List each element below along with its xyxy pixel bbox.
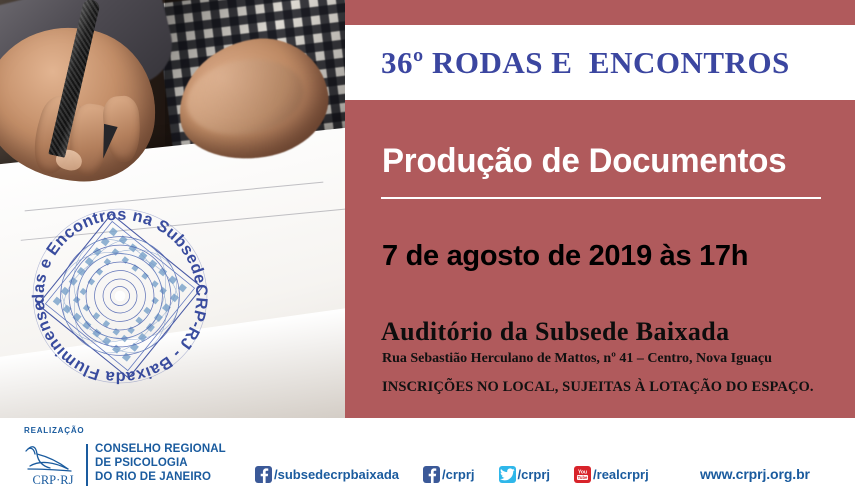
footer: REALIZAÇÃO CRP·RJ CONSELHO REGIONAL DE P… (0, 418, 855, 500)
social-links: /subsedecrpbaixada /crprj /crprj (255, 466, 649, 483)
social-link-youtube-realcrprj[interactable]: You Tube /realcrprj (574, 466, 649, 483)
social-handle: /subsedecrpbaixada (274, 467, 399, 482)
event-subtitle: Produção de Documentos (382, 142, 819, 181)
social-link-twitter-crprj[interactable]: /crprj (499, 466, 551, 483)
organization-line-1: CONSELHO REGIONAL (95, 442, 226, 456)
realizacao-label: REALIZAÇÃO (24, 426, 84, 435)
page-title: 36º RODAS E ENCONTROS (381, 45, 790, 81)
rodas-encontros-seal: Rodas e Encontros na Subsede do CRP-RJ -… (4, 180, 237, 413)
social-handle: /realcrprj (593, 467, 649, 482)
hero-photo: Rodas e Encontros na Subsede do CRP-RJ -… (0, 0, 345, 418)
crp-rj-logo: CRP·RJ (22, 442, 84, 488)
social-link-facebook-subsede[interactable]: /subsedecrpbaixada (255, 466, 399, 483)
event-address: Rua Sebastião Herculano de Mattos, nº 41… (382, 351, 772, 367)
subtitle-underline (381, 197, 821, 199)
logo-divider (86, 444, 88, 486)
organization-line-3: DO RIO DE JANEIRO (95, 470, 226, 484)
organization-line-2: DE PSICOLOGIA (95, 456, 226, 470)
website-url[interactable]: www.crprj.org.br (700, 466, 810, 482)
event-poster: Rodas e Encontros na Subsede do CRP-RJ -… (0, 0, 855, 500)
event-datetime: 7 de agosto de 2019 às 17h (382, 240, 748, 273)
social-handle: /crprj (518, 467, 551, 482)
title-band: 36º RODAS E ENCONTROS (345, 25, 855, 100)
event-venue: Auditório da Subsede Baixada (381, 317, 730, 347)
twitter-icon (499, 466, 516, 483)
facebook-icon (423, 466, 440, 483)
youtube-icon: You Tube (574, 466, 591, 483)
social-link-facebook-crprj[interactable]: /crprj (423, 466, 475, 483)
facebook-icon (255, 466, 272, 483)
registration-notice: INSCRIÇÕES NO LOCAL, SUJEITAS À LOTAÇÃO … (382, 379, 814, 396)
logo-wordmark: CRP·RJ (33, 473, 74, 487)
social-handle: /crprj (442, 467, 475, 482)
svg-text:Tube: Tube (578, 475, 588, 480)
organization-name: CONSELHO REGIONAL DE PSICOLOGIA DO RIO D… (95, 442, 226, 484)
info-panel: 36º RODAS E ENCONTROS Produção de Docume… (345, 0, 855, 418)
